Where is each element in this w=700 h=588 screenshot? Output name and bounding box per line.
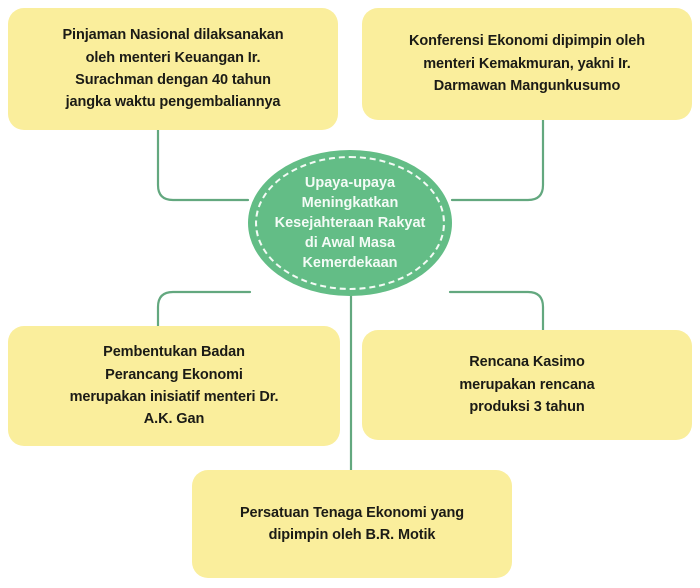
branch-node-bottom-left[interactable]: Pembentukan Badan Perancang Ekonomi meru… [8, 326, 340, 446]
connector-bottom-right [450, 292, 543, 330]
branch-node-top-right[interactable]: Konferensi Ekonomi dipimpin oleh menteri… [362, 8, 692, 120]
connector-bottom-left [158, 292, 250, 326]
branch-node-bottom-center-label: Persatuan Tenaga Ekonomi yang dipimpin o… [208, 502, 496, 547]
diagram-canvas: Pinjaman Nasional dilaksanakan oleh ment… [0, 0, 700, 588]
branch-node-top-left-label: Pinjaman Nasional dilaksanakan oleh ment… [24, 24, 322, 114]
branch-node-bottom-right[interactable]: Rencana Kasimo merupakan rencana produks… [362, 330, 692, 440]
branch-node-bottom-center[interactable]: Persatuan Tenaga Ekonomi yang dipimpin o… [192, 470, 512, 578]
central-topic-node[interactable]: Upaya-upaya Meningkatkan Kesejahteraan R… [248, 150, 452, 296]
connector-top-right [452, 120, 543, 200]
central-topic-label: Upaya-upaya Meningkatkan Kesejahteraan R… [269, 173, 432, 273]
branch-node-top-right-label: Konferensi Ekonomi dipimpin oleh menteri… [378, 30, 676, 97]
branch-node-top-left[interactable]: Pinjaman Nasional dilaksanakan oleh ment… [8, 8, 338, 130]
branch-node-bottom-right-label: Rencana Kasimo merupakan rencana produks… [378, 351, 676, 418]
branch-node-bottom-left-label: Pembentukan Badan Perancang Ekonomi meru… [24, 341, 324, 431]
connector-top-left [158, 128, 248, 200]
